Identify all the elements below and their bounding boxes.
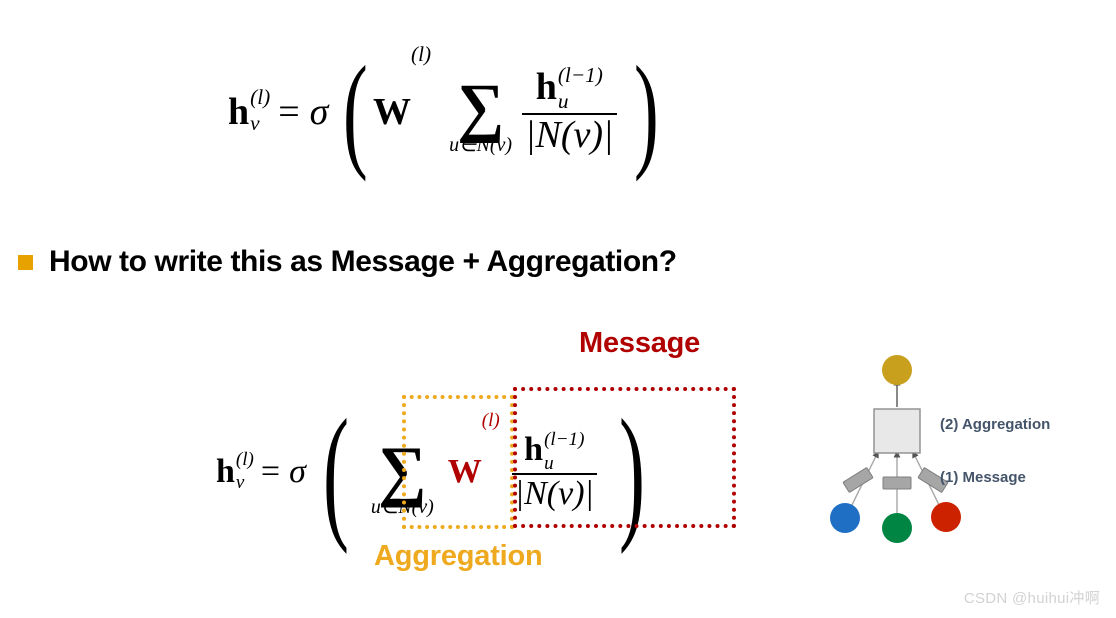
- formula-bottom-equals: =: [254, 453, 289, 491]
- formula-top-equals: =: [270, 90, 309, 134]
- formula-top-lhs-scripts: (l) v: [250, 90, 270, 133]
- formula-bottom-lhs-scripts: (l) v: [236, 453, 254, 492]
- formula-gcn-layer: h (l) v = σ ( W (l) ∑ u∈N(v) h(l−1)u |N(…: [228, 38, 667, 185]
- bullet-text: How to write this as Message + Aggregati…: [49, 245, 677, 279]
- neighbor-node-green-icon: [882, 513, 912, 543]
- message-passing-diagram: (2) Aggregation (1) Message: [812, 344, 1112, 544]
- diagram-message-label: (1) Message: [940, 469, 1026, 486]
- neighbor-node-red-icon: [931, 502, 961, 532]
- formula-top-activation: σ: [310, 90, 329, 134]
- message-box-center-icon: [883, 477, 911, 489]
- neighbor-node-blue-icon: [830, 503, 860, 533]
- aggregation-label: Aggregation: [374, 540, 543, 573]
- formula-top-denominator: |N(v)|: [522, 115, 616, 156]
- formula-bottom-activation: σ: [289, 453, 306, 491]
- message-highlight-box: [513, 387, 736, 528]
- message-box-left-icon: [843, 467, 873, 492]
- formula-top-weight-sup: (l): [411, 42, 431, 67]
- formula-top-numerator: h(l−1)u: [533, 68, 606, 113]
- formula-bottom-lhs-symbol: h: [216, 453, 235, 491]
- formula-top-open-paren: (: [343, 38, 368, 185]
- formula-top-summation: ∑ u∈N(v): [449, 80, 512, 155]
- aggregation-box-icon: [874, 409, 920, 453]
- aggregation-highlight-box: [402, 395, 514, 529]
- formula-top-close-paren: ): [633, 38, 658, 185]
- formula-top-weight-symbol: W: [373, 90, 411, 134]
- bullet-square-icon: [18, 255, 33, 270]
- message-boxes: [843, 467, 948, 492]
- target-node-icon: [882, 355, 912, 385]
- watermark: CSDN @huihui冲啊: [964, 587, 1100, 608]
- diagram-aggregation-label: (2) Aggregation: [940, 416, 1050, 433]
- bullet-line: How to write this as Message + Aggregati…: [18, 245, 677, 279]
- formula-bottom-open-paren: (: [323, 386, 349, 558]
- formula-top-fraction: h(l−1)u |N(v)|: [522, 68, 616, 156]
- formula-top-lhs-symbol: h: [228, 90, 249, 134]
- message-label: Message: [579, 327, 700, 360]
